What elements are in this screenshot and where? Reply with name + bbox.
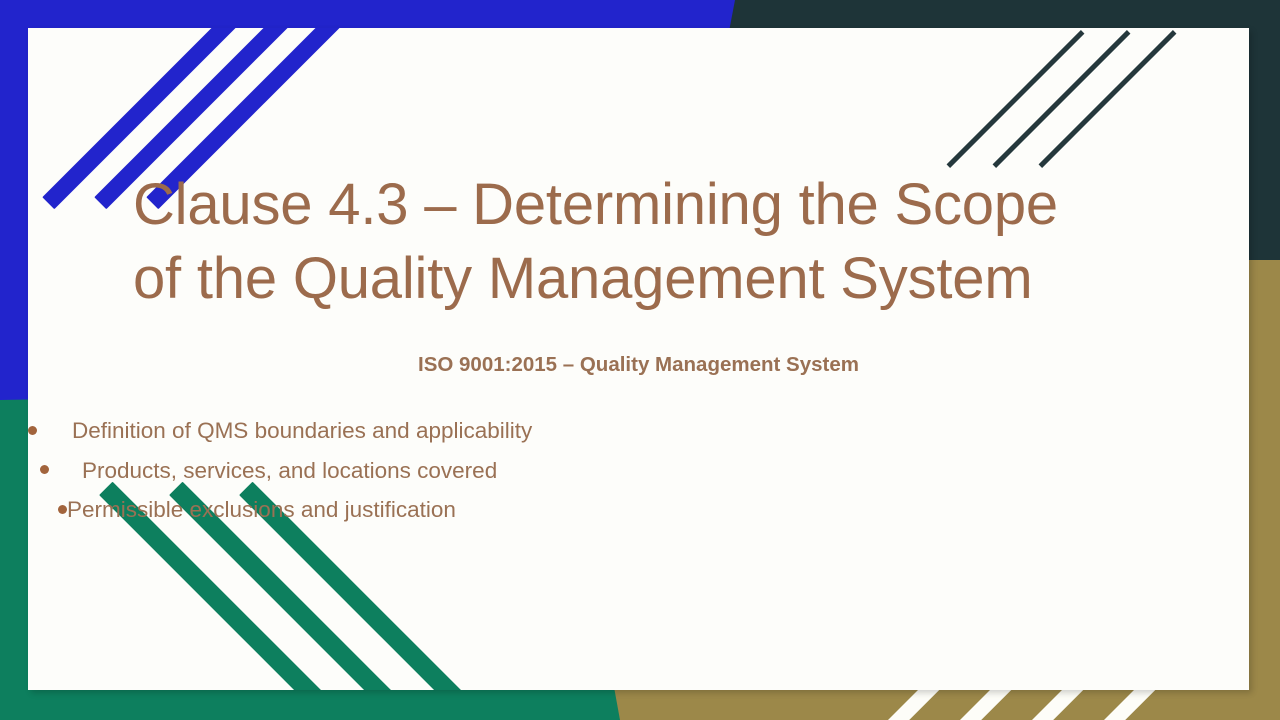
list-item: Permissible exclusions and justification <box>28 490 1249 530</box>
bullet-text: Products, services, and locations covere… <box>82 458 497 483</box>
list-item: Products, services, and locations covere… <box>28 451 1249 491</box>
bullet-dot-icon <box>28 426 37 435</box>
presentation-slide: Clause 4.3 – Determining the Scope of th… <box>0 0 1280 720</box>
slide-subtitle: ISO 9001:2015 – Quality Management Syste… <box>28 353 1249 377</box>
list-item: Definition of QMS boundaries and applica… <box>28 411 1249 451</box>
title-container: Clause 4.3 – Determining the Scope of th… <box>28 168 1249 315</box>
bullet-list: Definition of QMS boundaries and applica… <box>28 411 1249 530</box>
slide-content-card: Clause 4.3 – Determining the Scope of th… <box>28 28 1249 690</box>
bullet-dot-icon <box>58 505 67 514</box>
bullet-text: Definition of QMS boundaries and applica… <box>72 418 532 443</box>
subtitle-container: ISO 9001:2015 – Quality Management Syste… <box>28 353 1249 377</box>
dark-diagonal-lines <box>949 36 1209 166</box>
bullet-dot-icon <box>40 465 49 474</box>
bullet-text: Permissible exclusions and justification <box>67 497 456 522</box>
page-title: Clause 4.3 – Determining the Scope of th… <box>28 168 1249 315</box>
